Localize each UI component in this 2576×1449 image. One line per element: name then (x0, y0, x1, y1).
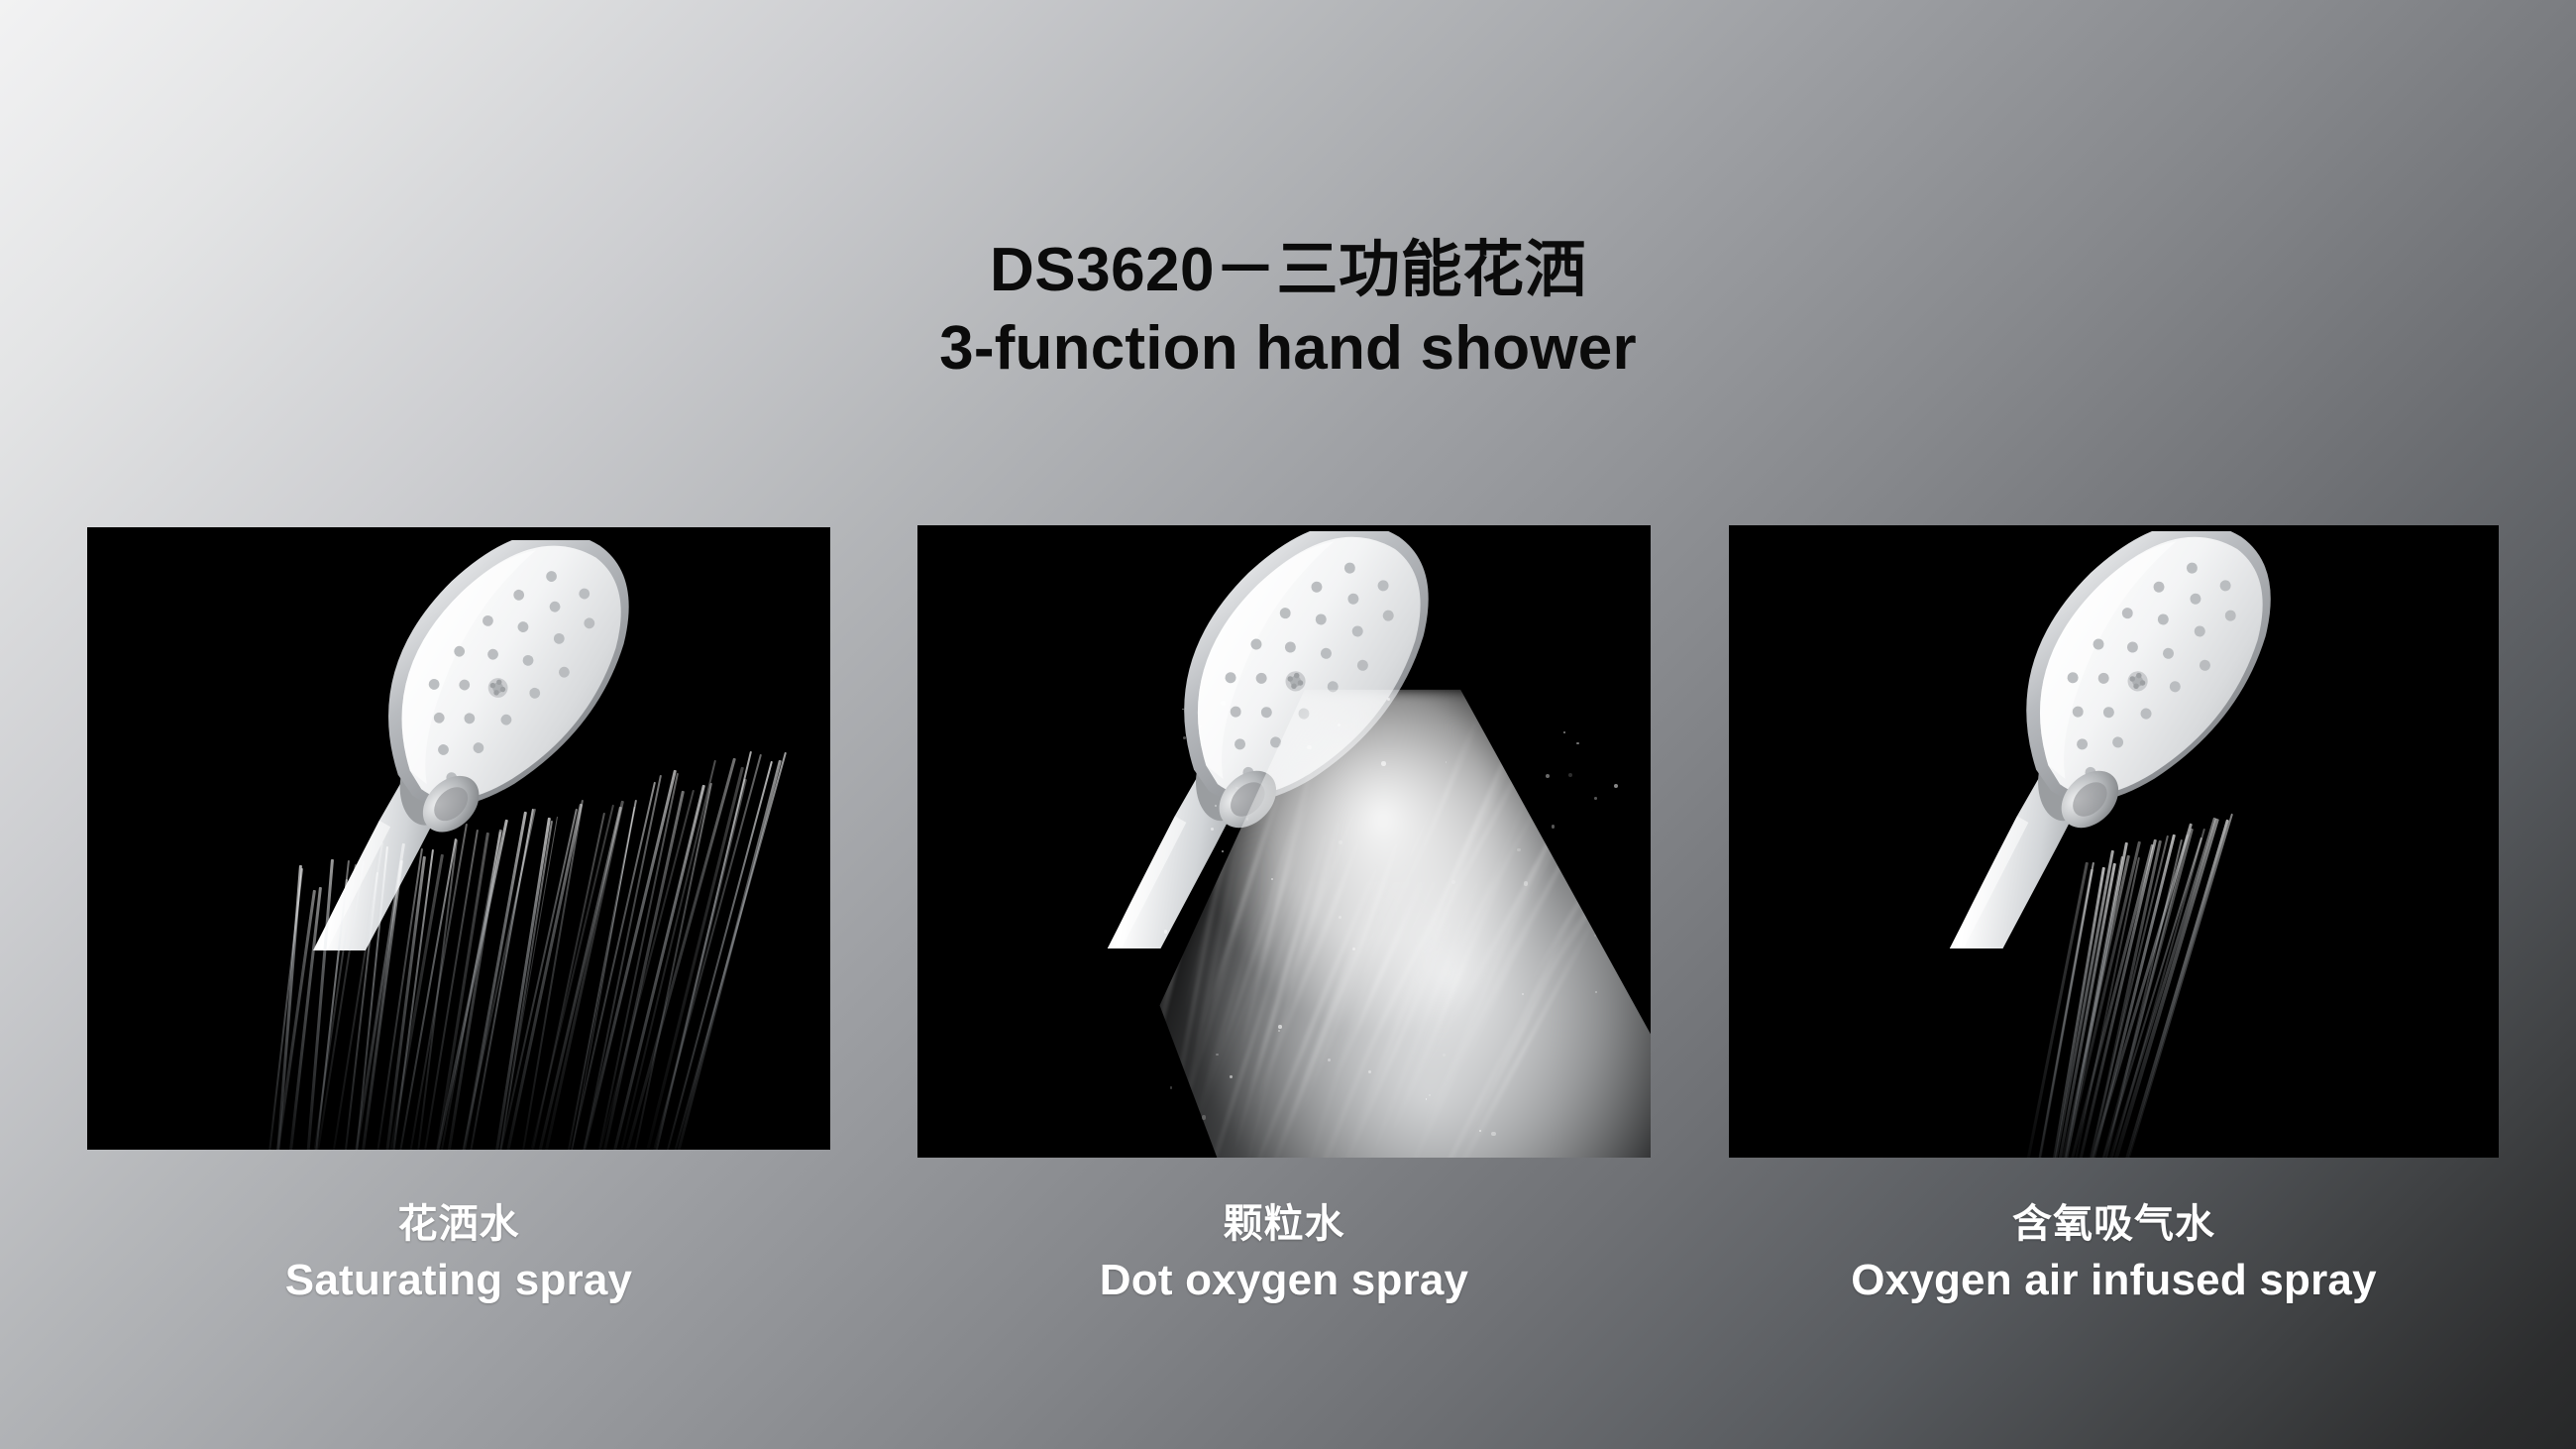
water-droplet (1381, 761, 1385, 765)
water-droplet (1524, 881, 1528, 885)
water-droplet (1222, 850, 1224, 852)
product-image-panel-saturating (87, 527, 830, 1150)
title-block: DS3620－三功能花洒 3-function hand shower (0, 236, 2576, 384)
spray-scene-oxygen-air (1729, 525, 2499, 1158)
water-droplet (1522, 993, 1525, 996)
panel-caption-saturating: 花洒水 Saturating spray (87, 1201, 830, 1305)
page-title-chinese: DS3620－三功能花洒 (0, 236, 2576, 304)
spray-streak (1515, 710, 1621, 926)
spray-streak (1527, 843, 1616, 988)
water-droplet (1517, 848, 1520, 851)
water-droplet (1278, 1030, 1281, 1033)
product-showcase-slide: DS3620－三功能花洒 3-function hand shower (0, 0, 2576, 1449)
spray-scene-saturating (87, 527, 830, 1150)
water-droplet (1594, 935, 1596, 937)
water-droplet (1429, 1094, 1432, 1097)
water-droplet (1352, 947, 1355, 950)
water-droplet (1235, 787, 1238, 790)
water-droplet (1594, 797, 1597, 800)
product-image-panel-oxygen-air (1729, 525, 2499, 1158)
water-droplet (1211, 828, 1214, 831)
spray-streak (1372, 924, 1528, 1158)
caption-english: Saturating spray (87, 1255, 830, 1305)
water-droplet (1216, 1054, 1218, 1056)
water-droplet (1614, 784, 1618, 788)
water-droplet (1568, 773, 1572, 777)
panel-caption-dot-oxygen: 颗粒水 Dot oxygen spray (917, 1201, 1651, 1305)
water-droplet (1479, 1130, 1481, 1132)
water-droplet (1328, 1059, 1332, 1062)
water-droplet (1278, 1025, 1282, 1029)
water-droplet (1202, 1115, 1206, 1119)
caption-chinese: 颗粒水 (917, 1201, 1651, 1247)
water-droplet (1491, 1132, 1496, 1137)
caption-chinese: 花洒水 (87, 1201, 830, 1247)
water-droplet (1307, 745, 1311, 749)
caption-english: Dot oxygen spray (917, 1255, 1651, 1305)
water-droplet (1246, 818, 1249, 821)
spray-streak (1533, 796, 1651, 998)
water-droplet (1230, 1075, 1232, 1077)
spray-streak (1383, 914, 1577, 1158)
water-droplet (1552, 825, 1555, 828)
spray-streak (1302, 926, 1371, 1115)
spray-scene-dot-oxygen (917, 525, 1651, 1158)
spray-streak (1474, 746, 1627, 1020)
hand-shower-product-image (939, 531, 1496, 948)
water-droplet (1339, 840, 1342, 844)
water-droplet (1338, 724, 1341, 726)
water-droplet (1271, 878, 1273, 880)
spray-streak (1463, 915, 1580, 1146)
water-droplet (1221, 701, 1225, 705)
water-droplet (1546, 774, 1550, 778)
water-droplet (1563, 731, 1565, 733)
panel-caption-oxygen-air: 含氧吸气水 Oxygen air infused spray (1729, 1201, 2499, 1305)
water-droplet (1426, 1098, 1428, 1100)
page-title-english: 3-function hand shower (0, 314, 2576, 383)
hand-shower-product-image (1768, 531, 2353, 948)
caption-chinese: 含氧吸气水 (1729, 1201, 2499, 1247)
water-droplet (1387, 698, 1390, 701)
caption-english: Oxygen air infused spray (1729, 1255, 2499, 1305)
spray-streak (1499, 915, 1574, 1067)
water-droplet (1595, 991, 1597, 993)
product-image-panel-dot-oxygen (917, 525, 1651, 1158)
water-droplet (1576, 742, 1579, 745)
water-droplet (1170, 1086, 1172, 1088)
water-droplet (1368, 1070, 1371, 1073)
water-droplet (1443, 1054, 1446, 1057)
